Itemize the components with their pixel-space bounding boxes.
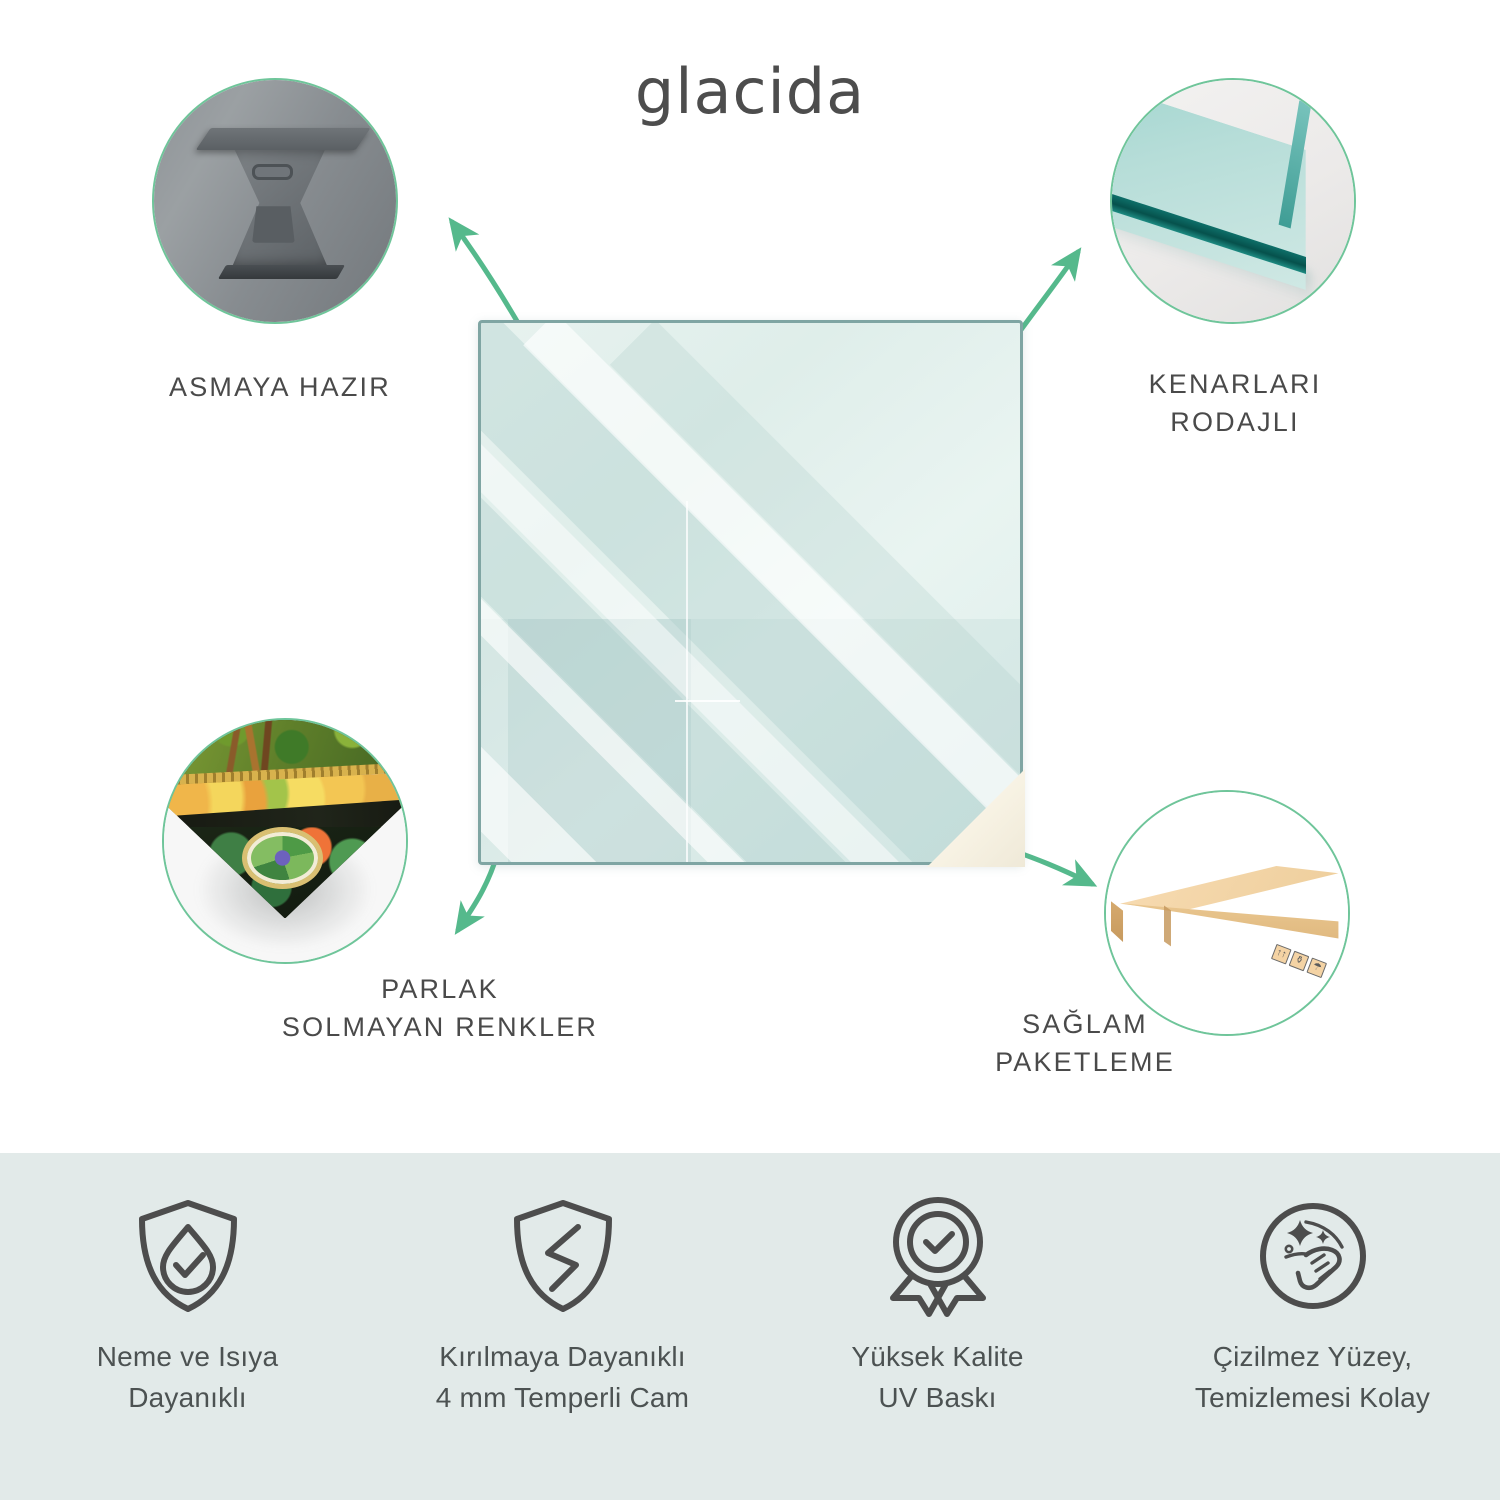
benefit-label-easy-clean: Çizilmez Yüzey, Temizlemesi Kolay xyxy=(1148,1337,1478,1418)
feature-label-hanging-ready: ASMAYA HAZIR xyxy=(90,368,470,406)
feature-label-vivid-colors: PARLAK SOLMAYAN RENKLER xyxy=(250,970,630,1047)
infographic-canvas: glacida ASMAYA HAZIR xyxy=(0,0,1500,1500)
feature-image-vivid-colors xyxy=(162,718,408,964)
benefit-label-uv-print: Yüksek Kalite UV Baskı xyxy=(773,1337,1103,1418)
benefit-moisture-heat: Neme ve Isıya Dayanıklı xyxy=(23,1191,353,1418)
packaging-symbols: ↑↑ ⚱ ☂ xyxy=(1271,944,1327,978)
benefit-break-resistant: Kırılmaya Dayanıklı 4 mm Temperli Cam xyxy=(398,1191,728,1418)
feature-image-polished-edges xyxy=(1110,78,1356,324)
feature-label-polished-edges: KENARLARI RODAJLI xyxy=(1045,365,1425,442)
feature-label-secure-packaging: SAĞLAM PAKETLEME xyxy=(895,1005,1275,1082)
arrow-to-hanging-ready xyxy=(452,222,525,335)
feature-image-secure-packaging: ↑↑ ⚱ ☂ xyxy=(1104,790,1350,1036)
sparkle-hand-wipe-icon xyxy=(1148,1191,1478,1321)
this-way-up-icon: ↑↑ xyxy=(1271,944,1292,965)
shield-lightning-bolt-icon xyxy=(398,1191,728,1321)
wall-mount-bracket-icon xyxy=(227,133,333,273)
feature-image-hanging-ready xyxy=(152,78,398,324)
arrow-to-vivid-colors xyxy=(458,855,497,930)
product-glass-panel xyxy=(478,320,1023,865)
fragile-icon: ⚱ xyxy=(1289,950,1310,971)
benefit-label-break-resistant: Kırılmaya Dayanıklı 4 mm Temperli Cam xyxy=(398,1337,728,1418)
benefit-label-moisture-heat: Neme ve Isıya Dayanıklı xyxy=(23,1337,353,1418)
benefit-easy-clean: Çizilmez Yüzey, Temizlemesi Kolay xyxy=(1148,1191,1478,1418)
shield-water-drop-check-icon xyxy=(23,1191,353,1321)
benefit-uv-print: Yüksek Kalite UV Baskı xyxy=(773,1191,1103,1418)
cardboard-box-front xyxy=(1111,903,1341,956)
keep-dry-icon: ☂ xyxy=(1307,957,1328,978)
award-ribbon-check-icon xyxy=(773,1191,1103,1321)
benefits-band: Neme ve Isıya Dayanıklı Kırılmaya Dayanı… xyxy=(0,1153,1500,1500)
